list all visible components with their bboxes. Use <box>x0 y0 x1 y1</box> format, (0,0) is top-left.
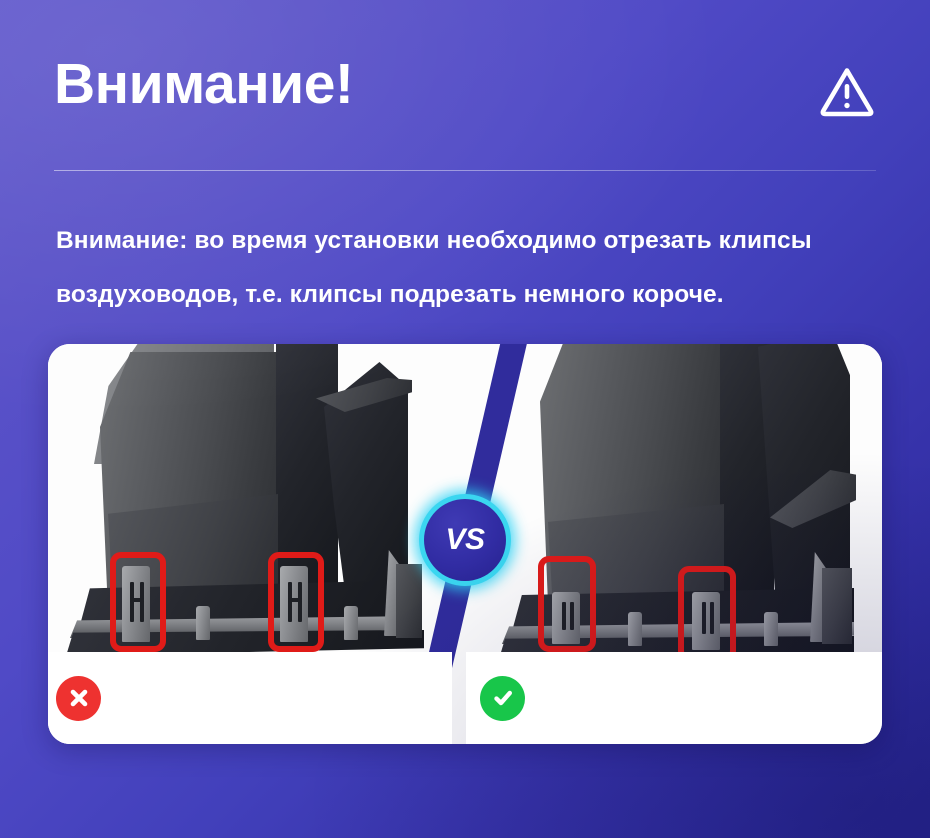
highlight-box-clip-2 <box>268 552 324 652</box>
check-icon <box>480 676 525 721</box>
header-divider <box>54 170 876 171</box>
page-title: Внимание! <box>54 56 353 113</box>
label-bar-left-bg <box>48 652 452 744</box>
header: Внимание! <box>0 0 930 172</box>
highlight-box-trimmed-2 <box>678 566 736 662</box>
warning-triangle-icon <box>818 64 876 120</box>
intro-paragraph: Внимание: во время установки необходимо … <box>56 214 886 322</box>
vs-label: VS <box>445 525 484 555</box>
vs-circle: VS <box>424 499 506 581</box>
cross-icon <box>56 676 101 721</box>
highlight-box-trimmed-1 <box>538 556 596 652</box>
comparison-card: VS Перед обрезкой после обрезки <box>48 344 882 744</box>
poster-root: Внимание! Внимание: во время установки н… <box>0 0 930 838</box>
highlight-box-clip-1 <box>110 552 166 652</box>
vs-badge: VS <box>419 494 511 586</box>
label-bar-right-bg <box>466 652 882 744</box>
